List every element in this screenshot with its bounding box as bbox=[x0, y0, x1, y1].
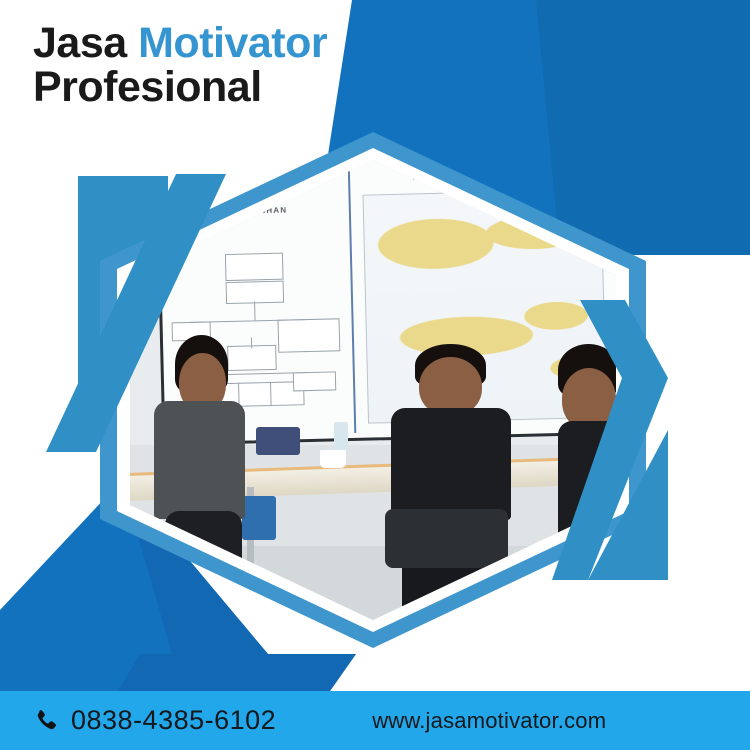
phone-handset-icon bbox=[33, 708, 59, 734]
photo-org-node bbox=[226, 253, 284, 282]
photo-snack-box bbox=[256, 427, 300, 455]
photo-org-node bbox=[278, 319, 341, 353]
photo-coffee-cup bbox=[320, 450, 346, 468]
headline-word-motivator: Motivator bbox=[138, 19, 327, 67]
photo-person-torso bbox=[391, 408, 511, 520]
headline-line-2: Profesional bbox=[33, 66, 327, 110]
photo-person-torso bbox=[558, 421, 616, 584]
photo-office-chair bbox=[385, 509, 507, 568]
photo-org-connector bbox=[254, 301, 255, 321]
hexagon-photo-frame: ORGANISASI LATIHAN PETA DE STRA bbox=[100, 132, 646, 648]
photo-org-node bbox=[293, 372, 337, 392]
headline-block: Jasa Motivator Profesional bbox=[33, 22, 327, 110]
headline-line-1: Jasa Motivator bbox=[33, 22, 327, 66]
poster-canvas: Jasa Motivator Profesional ORGANISASI LA… bbox=[0, 0, 750, 750]
headline-word-jasa: Jasa bbox=[33, 19, 138, 67]
footer-upper-band-shade bbox=[118, 654, 356, 691]
photo-whiteboard-divider bbox=[348, 165, 357, 433]
website-url-text[interactable]: www.jasamotivator.com bbox=[372, 708, 606, 734]
photo-water-bottle bbox=[334, 422, 348, 452]
photo-person-torso bbox=[154, 401, 245, 518]
phone-contact-group[interactable]: 0838-4385-6102 bbox=[33, 705, 276, 736]
phone-number-text: 0838-4385-6102 bbox=[71, 705, 276, 736]
footer-contact-bar: 0838-4385-6102 www.jasamotivator.com bbox=[0, 691, 750, 750]
